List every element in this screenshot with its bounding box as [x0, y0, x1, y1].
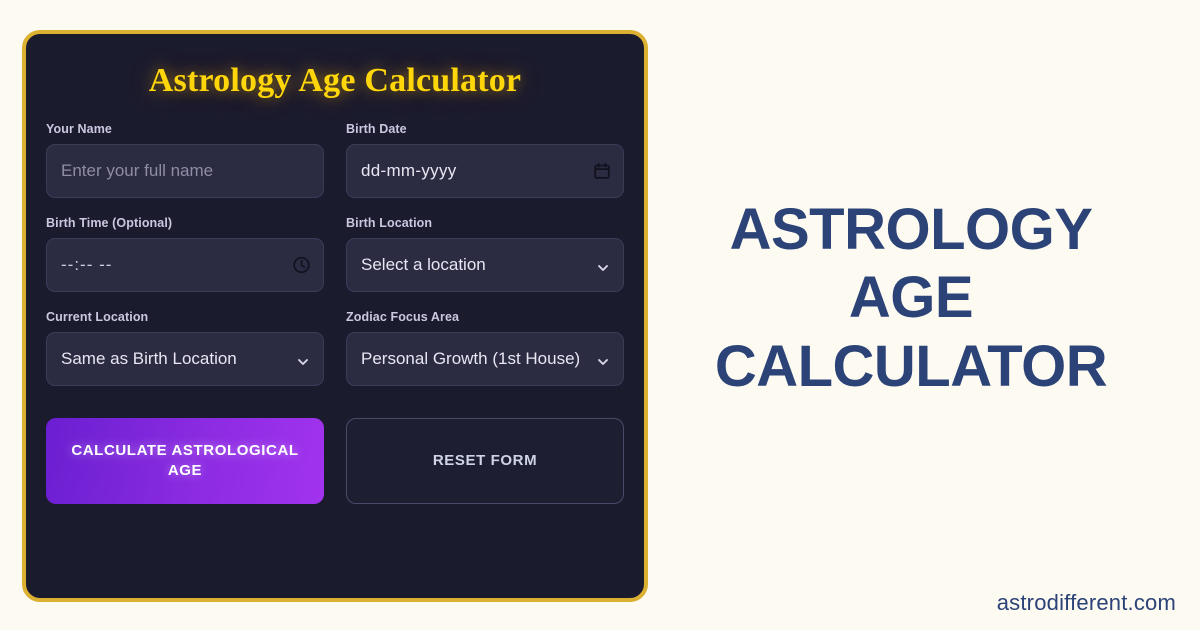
headline-line-1: ASTROLOGY [676, 196, 1146, 264]
label-birth-location: Birth Location [346, 216, 624, 230]
input-birth-time[interactable]: --:-- -- [46, 238, 324, 292]
select-zodiac-focus-area-value: Personal Growth (1st House) [361, 349, 579, 369]
headline-line-3: CALCULATOR [676, 333, 1146, 401]
form-actions: CALCULATE ASTROLOGICAL AGE RESET FORM [46, 418, 624, 504]
select-current-location-value: Same as Birth Location [61, 349, 237, 369]
input-your-name-placeholder: Enter your full name [61, 161, 213, 181]
clock-icon[interactable] [293, 257, 310, 274]
label-zodiac-focus-area: Zodiac Focus Area [346, 310, 624, 324]
label-birth-time: Birth Time (Optional) [46, 216, 324, 230]
astrology-calculator-card: Astrology Age Calculator Your Name Enter… [22, 30, 648, 602]
chevron-down-icon[interactable] [597, 259, 609, 271]
field-birth-date: Birth Date dd-mm-yyyy [346, 122, 624, 198]
field-birth-time: Birth Time (Optional) --:-- -- [46, 216, 324, 292]
field-your-name: Your Name Enter your full name [46, 122, 324, 198]
site-url: astrodifferent.com [997, 590, 1176, 616]
calculate-astrological-age-button[interactable]: CALCULATE ASTROLOGICAL AGE [46, 418, 324, 504]
select-current-location[interactable]: Same as Birth Location [46, 332, 324, 386]
field-birth-location: Birth Location Select a location [346, 216, 624, 292]
reset-form-button[interactable]: RESET FORM [346, 418, 624, 504]
input-your-name[interactable]: Enter your full name [46, 144, 324, 198]
chevron-down-icon[interactable] [297, 353, 309, 365]
select-zodiac-focus-area[interactable]: Personal Growth (1st House) [346, 332, 624, 386]
field-current-location: Current Location Same as Birth Location [46, 310, 324, 386]
poster-canvas: Astrology Age Calculator Your Name Enter… [0, 0, 1200, 630]
label-birth-date: Birth Date [346, 122, 624, 136]
label-your-name: Your Name [46, 122, 324, 136]
headline-line-2: AGE [676, 264, 1146, 332]
input-birth-date[interactable]: dd-mm-yyyy [346, 144, 624, 198]
label-current-location: Current Location [46, 310, 324, 324]
input-birth-date-value: dd-mm-yyyy [361, 161, 457, 181]
chevron-down-icon[interactable] [597, 353, 609, 365]
calendar-icon[interactable] [594, 163, 610, 180]
field-zodiac-focus-area: Zodiac Focus Area Personal Growth (1st H… [346, 310, 624, 386]
card-title: Astrology Age Calculator [46, 62, 624, 100]
select-birth-location[interactable]: Select a location [346, 238, 624, 292]
calculator-form: Your Name Enter your full name Birth Dat… [46, 122, 624, 400]
promo-headline: ASTROLOGY AGE CALCULATOR [676, 196, 1146, 401]
select-birth-location-value: Select a location [361, 255, 486, 275]
input-birth-time-value: --:-- -- [61, 255, 112, 275]
